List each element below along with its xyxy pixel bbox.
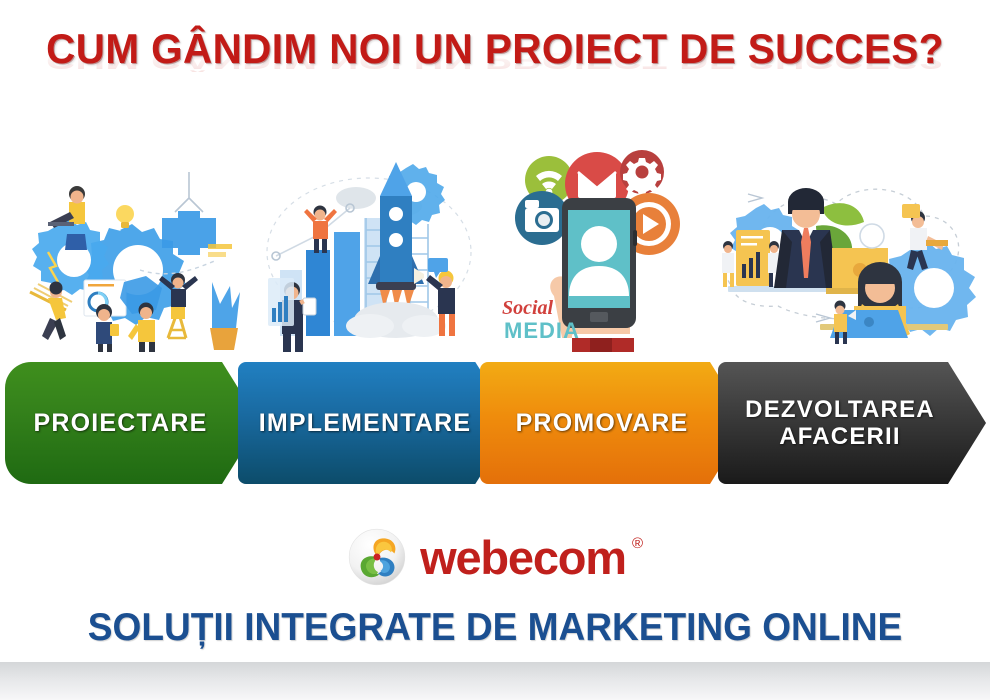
svg-text:Social: Social — [502, 297, 554, 319]
process-step-dezvoltarea-afacerii[interactable]: DEZVOLTAREA AFACERII — [718, 362, 986, 484]
svg-text:MEDIA: MEDIA — [504, 318, 580, 343]
webecom-logo-mark-icon — [348, 528, 406, 586]
process-step-dezvoltarea-afacerii-label: DEZVOLTAREA AFACERII — [745, 396, 959, 451]
tagline: SOLUȚII INTEGRATE DE MARKETING ONLINE — [0, 608, 990, 647]
process-step-promovare-label: PROMOVARE — [516, 409, 713, 438]
promovare-illustration: Social MEDIA — [494, 146, 702, 358]
page-title: CUM GÂNDIM NOI UN PROIECT DE SUCCES? CUM… — [0, 28, 990, 114]
process-step-line-1: DEZVOLTAREA — [745, 396, 935, 423]
illustration-panel-row: Social MEDIA — [0, 152, 990, 358]
process-step-promovare[interactable]: PROMOVARE — [480, 362, 748, 484]
proiectare-illustration — [12, 152, 244, 352]
process-step-implementare[interactable]: IMPLEMENTARE — [238, 362, 516, 484]
webecom-logo[interactable]: webecom® — [0, 524, 990, 590]
webecom-wordmark-text: webecom — [420, 531, 626, 584]
tagline-text: SOLUȚII INTEGRATE DE MARKETING ONLINE — [25, 608, 966, 647]
process-step-proiectare-label: PROIECTARE — [33, 409, 231, 438]
implementare-illustration — [258, 152, 480, 352]
process-step-line-2: AFACERII — [779, 423, 901, 450]
process-step-implementare-label: IMPLEMENTARE — [259, 409, 496, 438]
registered-trademark-symbol: ® — [632, 536, 642, 551]
process-step-proiectare[interactable]: PROIECTARE — [5, 362, 260, 484]
page-title-reflection: CUM GÂNDIM NOI UN PROIECT DE SUCCES? — [20, 49, 970, 72]
bottom-gradient-band — [0, 662, 990, 700]
process-chevron-bar: PROIECTARE IMPLEMENTARE PROMOVARE DEZVOL… — [0, 362, 990, 488]
webecom-wordmark: webecom® — [420, 534, 642, 581]
dezvoltarea-afacerii-illustration — [712, 164, 980, 344]
